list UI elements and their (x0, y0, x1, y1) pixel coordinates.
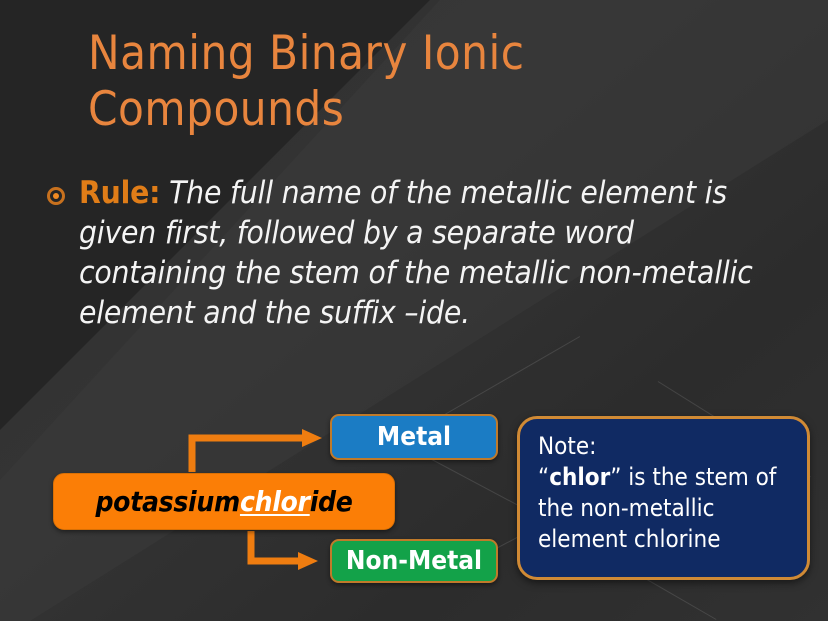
compound-suffix: ide (310, 485, 353, 518)
compound-prefix: potassium (95, 485, 240, 518)
page-title: Naming Binary Ionic Compounds (88, 26, 788, 138)
note-quote-open: “ (538, 463, 549, 491)
note-heading: Note: (538, 431, 791, 462)
nonmetal-box[interactable]: Non-Metal (330, 539, 498, 583)
note-stem: chlor (549, 463, 610, 491)
rule-text-block: Rule: The full name of the metallic elem… (79, 173, 784, 333)
rule-body-text: The full name of the metallic element is… (79, 175, 753, 331)
metal-label: Metal (377, 422, 451, 452)
nonmetal-label: Non-Metal (346, 546, 482, 576)
target-bullet-icon (47, 187, 65, 205)
slide-canvas: Naming Binary Ionic Compounds Rule: The … (0, 0, 828, 621)
note-quote-close: ” (610, 463, 621, 491)
rule-bullet: Rule: The full name of the metallic elem… (44, 173, 784, 333)
compound-stem: chlor (240, 485, 310, 518)
note-body: “chlor” is the stem of the non-metallic … (538, 462, 791, 555)
metal-box[interactable]: Metal (330, 414, 498, 460)
rule-lead-label: Rule: (79, 175, 160, 211)
note-callout: Note: “chlor” is the stem of the non-met… (517, 416, 810, 580)
compound-name-box[interactable]: potassium chloride (53, 473, 395, 530)
